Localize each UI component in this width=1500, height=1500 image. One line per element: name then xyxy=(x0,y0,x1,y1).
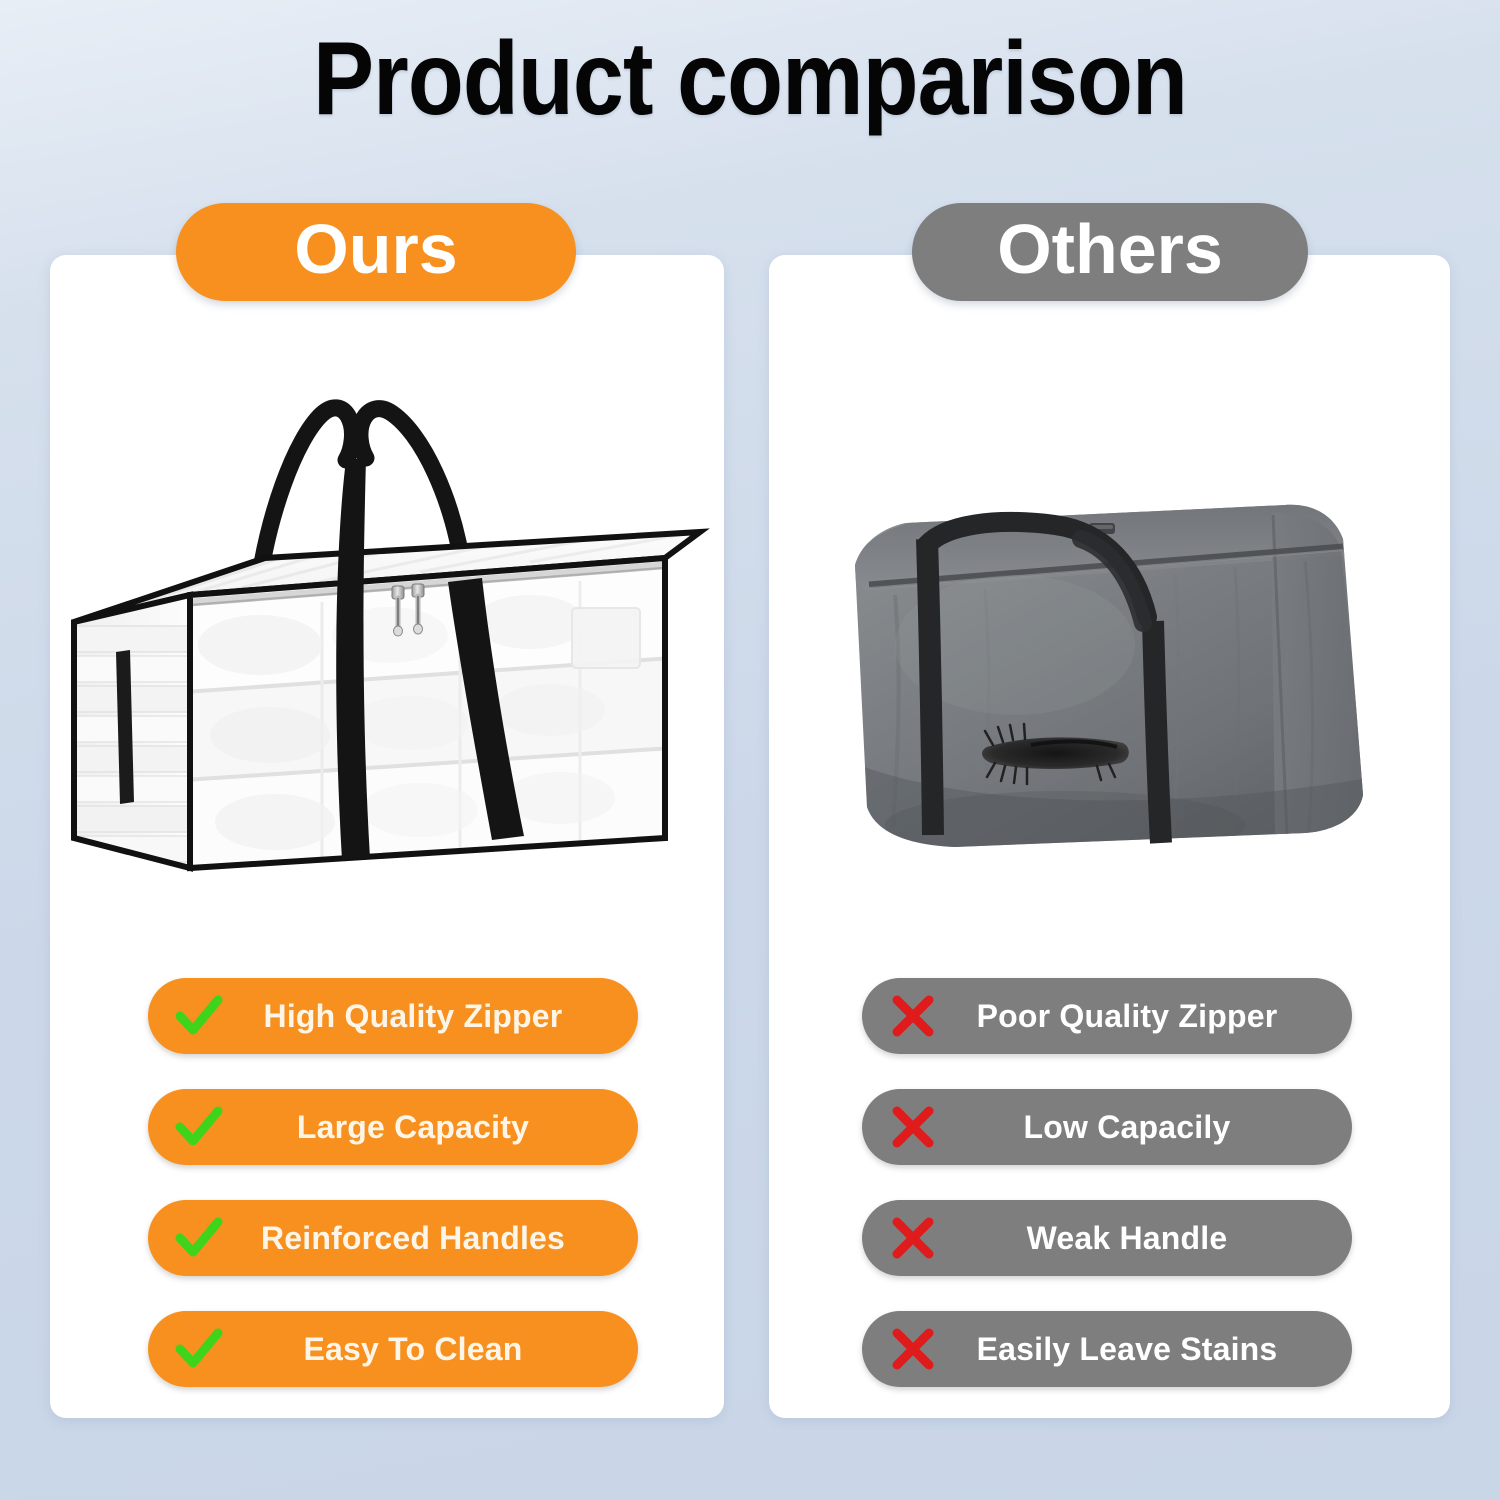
page-title: Product comparison xyxy=(90,22,1410,136)
bag-label-patch xyxy=(572,608,640,668)
feature-pill[interactable]: Reinforced Handles xyxy=(148,1200,638,1276)
cross-icon xyxy=(884,1209,942,1267)
feature-pill[interactable]: High Quality Zipper xyxy=(148,978,638,1054)
ours-product-image xyxy=(60,390,710,920)
white-clear-storage-bag-illustration xyxy=(60,390,710,920)
front-bedding-rolls xyxy=(185,566,672,872)
cross-icon xyxy=(884,1320,942,1378)
ours-badge-label: Ours xyxy=(294,209,457,289)
check-icon xyxy=(170,987,228,1045)
check-icon xyxy=(170,1320,228,1378)
ours-badge: Ours xyxy=(176,203,576,301)
ours-feature-list: High Quality Zipper Large Capacity Reinf… xyxy=(148,978,638,1387)
check-icon xyxy=(170,1209,228,1267)
bag-side-panel xyxy=(68,595,198,868)
others-feature-list: Poor Quality Zipper Low Capacily Weak Ha… xyxy=(862,978,1352,1387)
comparison-page: Product comparison Ours Others xyxy=(0,0,1500,1500)
cross-icon xyxy=(884,987,942,1045)
feature-pill[interactable]: Poor Quality Zipper xyxy=(862,978,1352,1054)
check-icon xyxy=(170,1098,228,1156)
feature-pill[interactable]: Easy To Clean xyxy=(148,1311,638,1387)
others-product-image xyxy=(835,495,1380,885)
gray-duffel-bag-illustration xyxy=(835,495,1380,885)
feature-pill[interactable]: Weak Handle xyxy=(862,1200,1352,1276)
feature-pill[interactable]: Easily Leave Stains xyxy=(862,1311,1352,1387)
feature-pill[interactable]: Low Capacily xyxy=(862,1089,1352,1165)
others-badge-label: Others xyxy=(997,209,1223,289)
cross-icon xyxy=(884,1098,942,1156)
bag-front-panel xyxy=(185,558,672,872)
feature-pill[interactable]: Large Capacity xyxy=(148,1089,638,1165)
others-badge: Others xyxy=(912,203,1308,301)
